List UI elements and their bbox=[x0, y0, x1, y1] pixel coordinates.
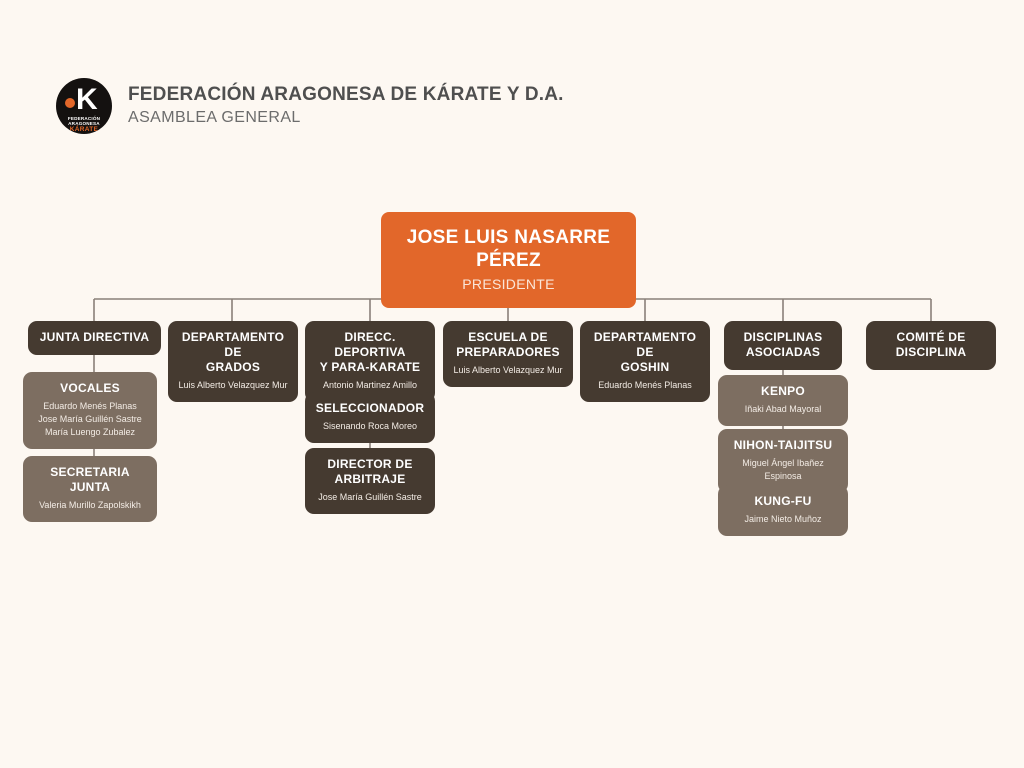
node-presidente[interactable]: JOSE LUIS NASARRE PÉREZ PRESIDENTE bbox=[381, 212, 636, 308]
node-subtitle: Jose María Guillén Sastre bbox=[313, 491, 427, 504]
node-subtitle: Antonio Martinez Amillo bbox=[313, 379, 427, 392]
node-title: COMITÉ DE DISCIPLINA bbox=[874, 330, 988, 360]
node-junta-directiva[interactable]: JUNTA DIRECTIVA bbox=[28, 321, 161, 355]
node-nihon-taijitsu[interactable]: NIHON-TAIJITSU Miguel Ángel Ibañez Espin… bbox=[718, 429, 848, 493]
node-title: SECRETARIA JUNTA bbox=[31, 465, 149, 495]
node-director-de-arbitraje[interactable]: DIRECTOR DE ARBITRAJE Jose María Guillén… bbox=[305, 448, 435, 514]
node-title: JUNTA DIRECTIVA bbox=[36, 330, 153, 345]
node-subtitle: Eduardo Menés Planas bbox=[588, 379, 702, 392]
node-comite-de-disciplina[interactable]: COMITÉ DE DISCIPLINA bbox=[866, 321, 996, 370]
node-secretaria-junta[interactable]: SECRETARIA JUNTA Valeria Murillo Zapolsk… bbox=[23, 456, 157, 522]
node-title: KUNG-FU bbox=[726, 494, 840, 509]
node-title: ESCUELA DE PREPARADORES bbox=[451, 330, 565, 360]
node-subtitle: Luis Alberto Velazquez Mur bbox=[451, 364, 565, 377]
node-title: JOSE LUIS NASARRE PÉREZ bbox=[391, 226, 626, 272]
node-departamento-de-goshin[interactable]: DEPARTAMENTO DE GOSHIN Eduardo Menés Pla… bbox=[580, 321, 710, 402]
node-subtitle: Luis Alberto Velazquez Mur bbox=[176, 379, 290, 392]
org-chart: JOSE LUIS NASARRE PÉREZ PRESIDENTE JUNTA… bbox=[0, 0, 1024, 768]
node-subtitle: Jaime Nieto Muñoz bbox=[726, 513, 840, 526]
node-departamento-de-grados[interactable]: DEPARTAMENTO DE GRADOS Luis Alberto Vela… bbox=[168, 321, 298, 402]
node-direccion-deportiva-para-karate[interactable]: DIRECC. DEPORTIVA Y PARA-KARATE Antonio … bbox=[305, 321, 435, 402]
node-subtitle: Iñaki Abad Mayoral bbox=[726, 403, 840, 416]
node-seleccionador[interactable]: SELECCIONADOR Sisenando Roca Moreo bbox=[305, 392, 435, 443]
node-subtitle: Valeria Murillo Zapolskikh bbox=[31, 499, 149, 512]
node-title: DISCIPLINAS ASOCIADAS bbox=[732, 330, 834, 360]
node-disciplinas-asociadas[interactable]: DISCIPLINAS ASOCIADAS bbox=[724, 321, 842, 370]
node-title: DIRECC. DEPORTIVA Y PARA-KARATE bbox=[313, 330, 427, 375]
node-kung-fu[interactable]: KUNG-FU Jaime Nieto Muñoz bbox=[718, 485, 848, 536]
node-title: SELECCIONADOR bbox=[313, 401, 427, 416]
node-title: VOCALES bbox=[31, 381, 149, 396]
node-title: DEPARTAMENTO DE GRADOS bbox=[176, 330, 290, 375]
node-title: DEPARTAMENTO DE GOSHIN bbox=[588, 330, 702, 375]
node-kenpo[interactable]: KENPO Iñaki Abad Mayoral bbox=[718, 375, 848, 426]
node-title: NIHON-TAIJITSU bbox=[726, 438, 840, 453]
node-escuela-de-preparadores[interactable]: ESCUELA DE PREPARADORES Luis Alberto Vel… bbox=[443, 321, 573, 387]
node-subtitle: Miguel Ángel Ibañez Espinosa bbox=[726, 457, 840, 483]
node-subtitle: PRESIDENTE bbox=[391, 275, 626, 293]
node-subtitle: Sisenando Roca Moreo bbox=[313, 420, 427, 433]
node-title: DIRECTOR DE ARBITRAJE bbox=[313, 457, 427, 487]
node-subtitle: Eduardo Menés Planas Jose María Guillén … bbox=[31, 400, 149, 439]
node-title: KENPO bbox=[726, 384, 840, 399]
node-vocales[interactable]: VOCALES Eduardo Menés Planas Jose María … bbox=[23, 372, 157, 449]
